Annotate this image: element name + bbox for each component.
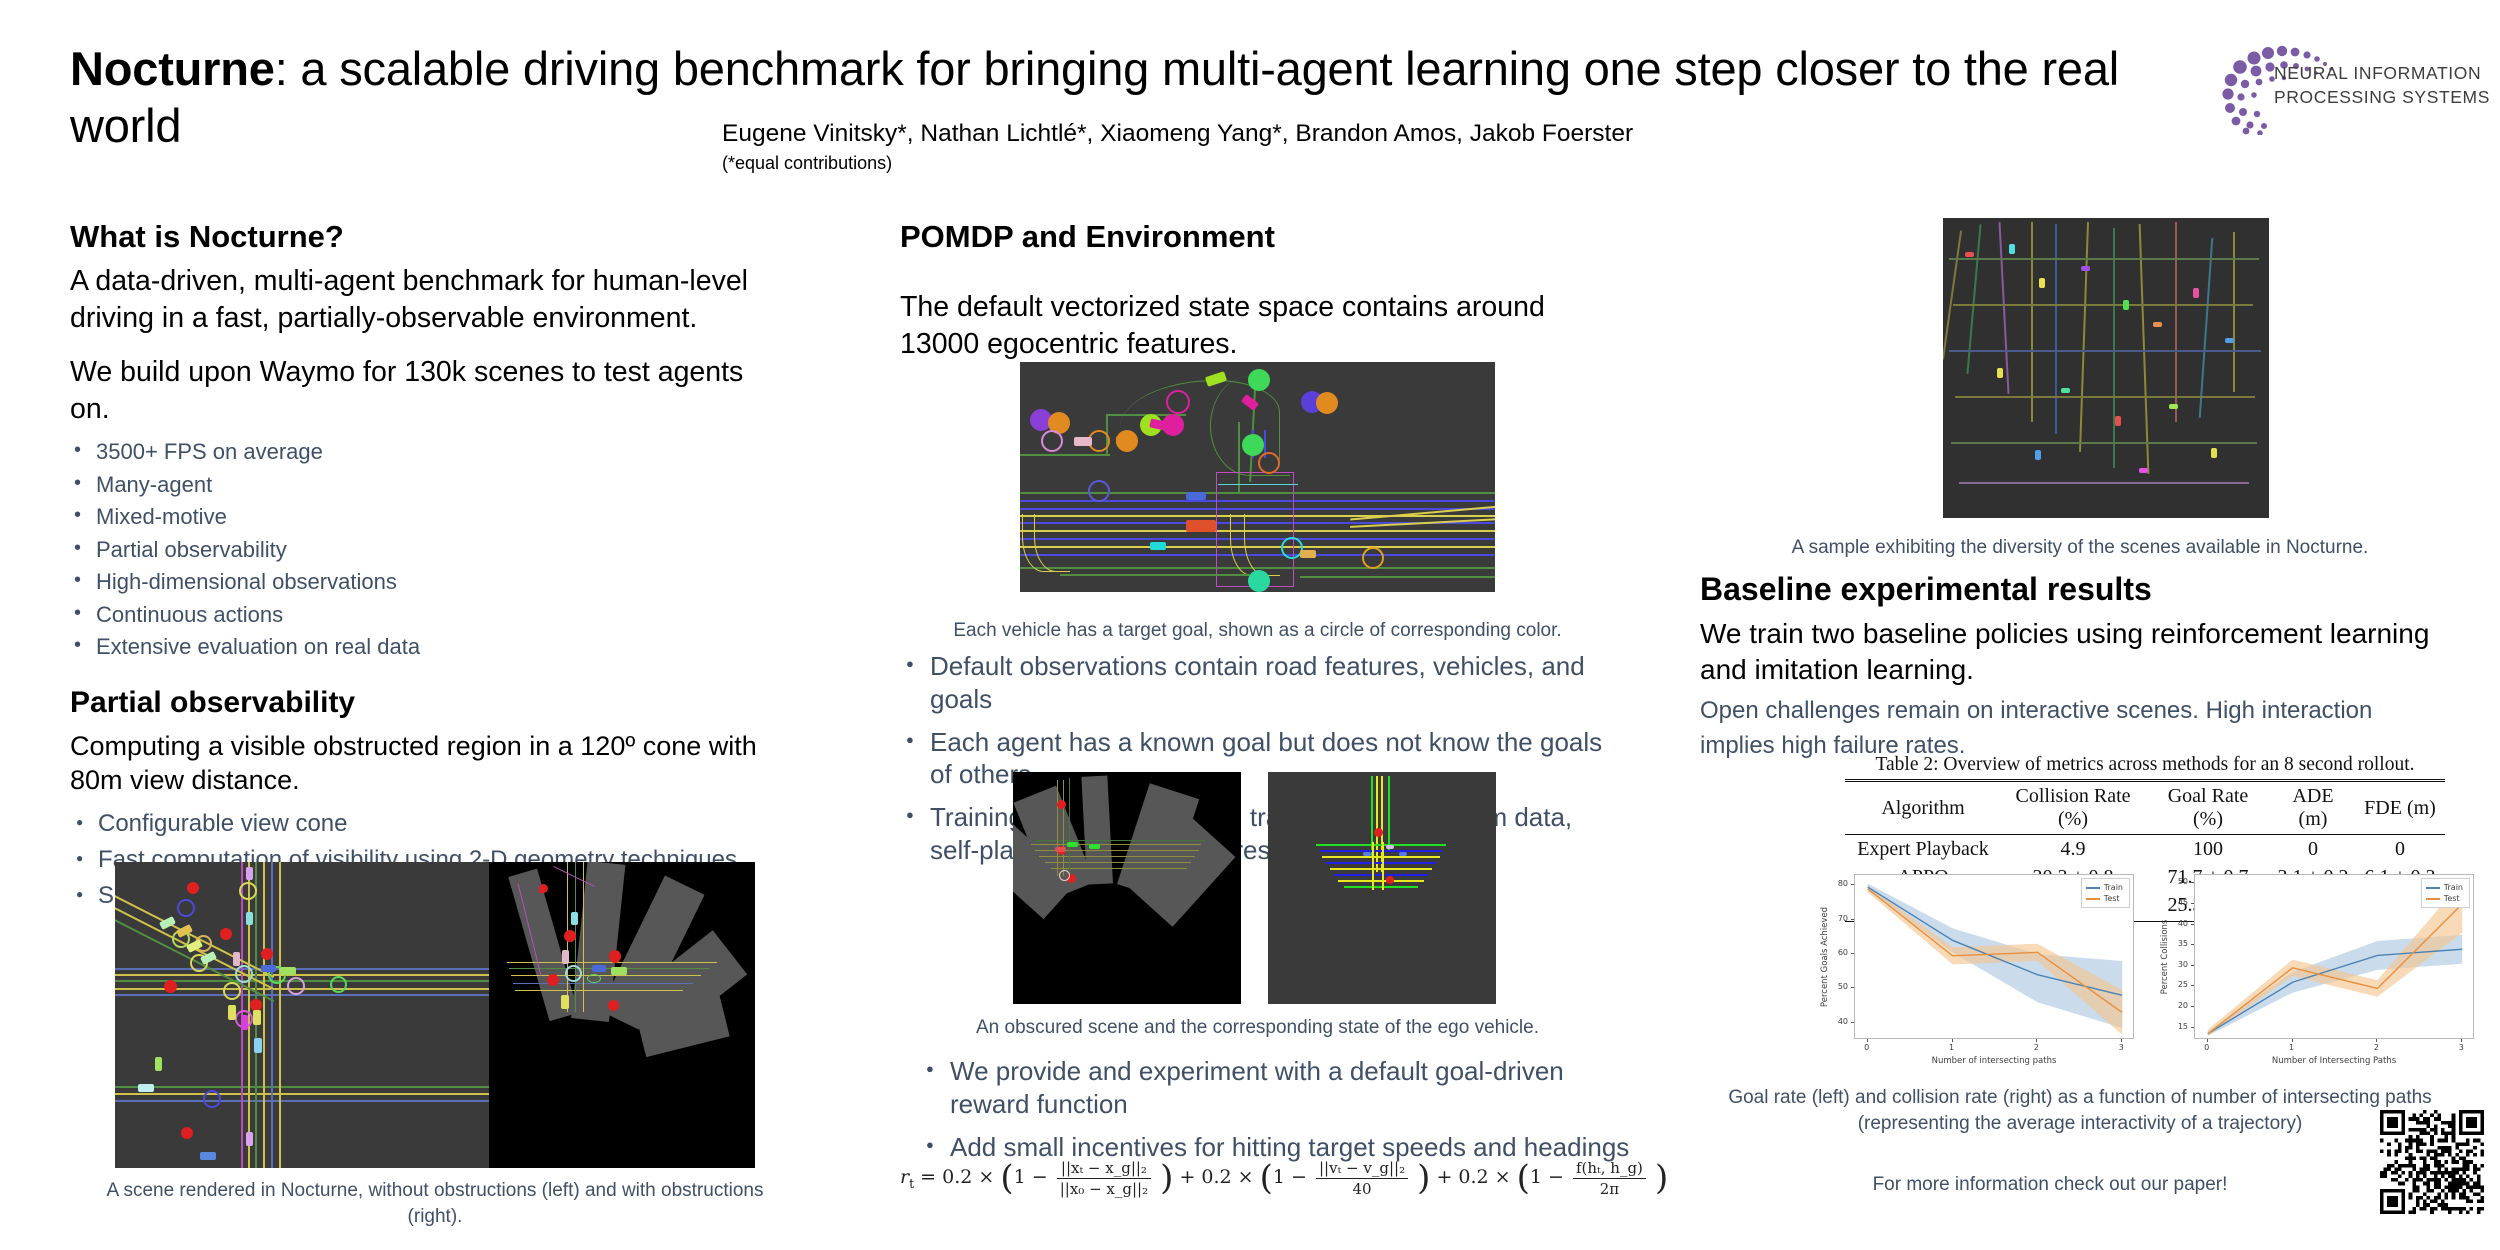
legend-label: Test [2444,894,2460,903]
x-tick-mark [2292,1039,2293,1042]
col-header-algorithm: Algorithm [1845,781,2001,835]
y-tick-label: 50 [2160,877,2188,886]
y-tick-label: 15 [2160,1022,2188,1031]
x-tick-mark [2207,1039,2208,1042]
cell-goal-rate: 100 [2145,835,2271,864]
caption-line-1: Goal rate (left) and collision rate (rig… [1700,1085,2460,1111]
figure-scene-diversity [1943,218,2269,518]
formula-lhs: rt = 0.2 × [900,1166,994,1188]
table-row: Expert Playback 4.9 100 0 0 [1845,835,2445,864]
cell-ade: 0 [2271,835,2355,864]
figure-caption-obscured-scene: An obscured scene and the corresponding … [900,1015,1615,1041]
section-heading-partial-observability: Partial observability [70,685,800,721]
list-item: Each agent has a known goal but does not… [900,726,1620,792]
y-tick-mark [1851,1022,1854,1023]
reward-formula: rt = 0.2 × (1 − ||xₜ − x_g||₂ ||x₀ − x_g… [900,1158,1620,1198]
equal-contribution-note: (*equal contributions) [722,153,892,174]
figure-ego-state [1268,772,1496,1004]
figure-pomdp-scene [1020,362,1495,592]
table-title: Table 2: Overview of metrics across meth… [1845,754,2445,776]
table-header: Algorithm Collision Rate (%) Goal Rate (… [1845,781,2445,835]
y-tick-mark [2191,985,2194,986]
logo-line-1: NEURAL INFORMATION [2274,62,2490,86]
y-tick-mark [2191,924,2194,925]
formula-term-3: f(hₜ, h_g) 2π [1573,1159,1646,1198]
list-item: High-dimensional observations [70,571,800,593]
y-tick-mark [2191,1006,2194,1007]
logo-line-2: PROCESSING SYSTEMS [2274,86,2490,110]
paren-open-3: ( [1517,1158,1530,1198]
legend-item: Test [2426,893,2463,904]
col-header-fde: FDE (m) [2355,781,2445,835]
list-item: Many-agent [70,474,800,496]
legend-swatch [2086,898,2100,900]
legend-item: Train [2426,882,2463,893]
y-tick-label: 40 [1820,1017,1848,1026]
list-item: Training can be done using trajectory re… [900,801,1620,867]
neurips-logo: NEURAL INFORMATION PROCESSING SYSTEMS [2212,40,2487,135]
legend-label: Train [2444,883,2463,892]
poster-root: Nocturne: a scalable driving benchmark f… [0,0,2500,1250]
qr-code[interactable] [2380,1110,2484,1214]
x-tick-label: 0 [1861,1043,1873,1052]
col-header-ade: ADE (m) [2271,781,2355,835]
y-tick-mark [2191,903,2194,904]
figure-caption-scene-obstructions: A scene rendered in Nocturne, without ob… [95,1178,775,1229]
x-axis-label: Number of intersecting paths [1854,1056,2134,1066]
legend-label: Train [2104,883,2123,892]
figure-caption-scene-diversity: A sample exhibiting the diversity of the… [1700,535,2460,561]
list-item: Continuous actions [70,604,800,626]
author-list: Eugene Vinitsky*, Nathan Lichtlé*, Xiaom… [722,118,1922,150]
x-tick-label: 1 [2286,1043,2298,1052]
neurips-logo-text: NEURAL INFORMATION PROCESSING SYSTEMS [2274,62,2490,109]
y-tick-mark [1851,953,1854,954]
x-tick-mark [2461,1039,2462,1042]
x-tick-mark [2121,1039,2122,1042]
column-middle: POMDP and Environment The default vector… [900,218,1610,362]
x-axis-label: Number of Intersecting Paths [2194,1056,2474,1066]
y-axis-label: Percent Collisions [2160,919,2170,994]
figure-caption-pomdp-goals: Each vehicle has a target goal, shown as… [900,618,1615,644]
legend-label: Test [2104,894,2120,903]
figure-obscured-scene [1013,772,1241,1004]
cell-collision-rate: 4.9 [2001,835,2145,864]
cell-fde: 0 [2355,835,2445,864]
column-right: Baseline experimental results We train t… [1700,570,2460,764]
paren-open-1: ( [1000,1158,1013,1198]
y-tick-mark [2191,882,2194,883]
col-header-collision-rate: Collision Rate (%) [2001,781,2145,835]
y-tick-label: 20 [2160,1001,2188,1010]
paren-close-3: ) [1655,1158,1668,1198]
formula-term-2: ||vₜ − v_g||₂ 40 [1316,1159,1408,1198]
list-item: Mixed-motive [70,506,800,528]
legend-item: Train [2086,882,2123,893]
chart-legend: TrainTest [2421,878,2470,908]
list-item: 3500+ FPS on average [70,441,800,463]
chart-legend: TrainTest [2081,878,2130,908]
collision-rate-chart: 01231520253035404550Number of Intersecti… [2160,868,2480,1073]
legend-swatch [2426,887,2440,889]
list-item: Configurable view cone [70,810,800,838]
list-item: We provide and experiment with a default… [920,1055,1640,1121]
paren-open-2: ( [1260,1158,1273,1198]
x-tick-label: 3 [2455,1043,2467,1052]
goal-rate-chart: 01234050607080Number of intersecting pat… [1820,868,2140,1073]
legend-swatch [2426,898,2440,900]
y-tick-mark [1851,987,1854,988]
legend-swatch [2086,887,2100,889]
x-tick-mark [2036,1039,2037,1042]
pomdp-bullet-list: Default observations contain road featur… [900,650,1620,867]
what-is-nocturne-bullet-list: 3500+ FPS on average Many-agent Mixed-mo… [70,441,800,658]
coef-2: 0.2 [1201,1166,1231,1188]
x-tick-mark [1867,1039,1868,1042]
x-tick-label: 0 [2201,1043,2213,1052]
x-tick-label: 3 [2115,1043,2127,1052]
results-charts: 01234050607080Number of intersecting pat… [1820,868,2480,1073]
reward-bullet-list: We provide and experiment with a default… [920,1055,1640,1163]
x-tick-label: 2 [2370,1043,2382,1052]
y-axis-label: Percent Goals Achieved [1820,906,1830,1006]
caption-line-2: (representing the average interactivity … [1700,1111,2460,1137]
x-tick-mark [1952,1039,1953,1042]
poster-header: Nocturne: a scalable driving benchmark f… [0,0,2500,200]
y-tick-mark [2191,944,2194,945]
x-tick-label: 1 [1946,1043,1958,1052]
section-heading-pomdp: POMDP and Environment [900,218,1610,255]
coef-3: 0.2 [1458,1166,1488,1188]
formula-term-1: ||xₜ − x_g||₂ ||x₀ − x_g||₂ [1057,1159,1151,1198]
x-tick-mark [2376,1039,2377,1042]
list-item: Default observations contain road featur… [900,650,1620,716]
paren-close-1: ) [1160,1158,1173,1198]
partial-observability-paragraph: Computing a visible obstructed region in… [70,729,760,798]
title-bold: Nocturne [70,42,275,95]
section-heading-baseline-results: Baseline experimental results [1700,570,2460,608]
what-is-nocturne-paragraph-1: A data-driven, multi-agent benchmark for… [70,263,785,336]
table-header-row: Algorithm Collision Rate (%) Goal Rate (… [1845,781,2445,835]
x-tick-label: 2 [2030,1043,2042,1052]
y-tick-mark [2191,965,2194,966]
list-item: Extensive evaluation on real data [70,636,800,658]
col-header-goal-rate: Goal Rate (%) [2145,781,2271,835]
list-item: Partial observability [70,539,800,561]
section-heading-what-is-nocturne: What is Nocturne? [70,218,800,255]
what-is-nocturne-paragraph-2: We build upon Waymo for 130k scenes to t… [70,354,790,427]
cta-text: For more information check out our paper… [1700,1172,2400,1198]
y-tick-mark [2191,1027,2194,1028]
figure-scene-with-without-obstructions [115,862,755,1168]
column-left: What is Nocturne? A data-driven, multi-a… [70,218,800,919]
y-tick-label: 80 [1820,879,1848,888]
baseline-paragraph-1: We train two baseline policies using rei… [1700,616,2455,688]
y-tick-mark [1851,919,1854,920]
pomdp-paragraph: The default vectorized state space conta… [900,289,1600,362]
figure-caption-results-charts: Goal rate (left) and collision rate (rig… [1700,1085,2460,1136]
cell-algorithm: Expert Playback [1845,835,2001,864]
paren-close-2: ) [1417,1158,1430,1198]
legend-item: Test [2086,893,2123,904]
y-tick-mark [1851,884,1854,885]
y-tick-label: 45 [2160,898,2188,907]
